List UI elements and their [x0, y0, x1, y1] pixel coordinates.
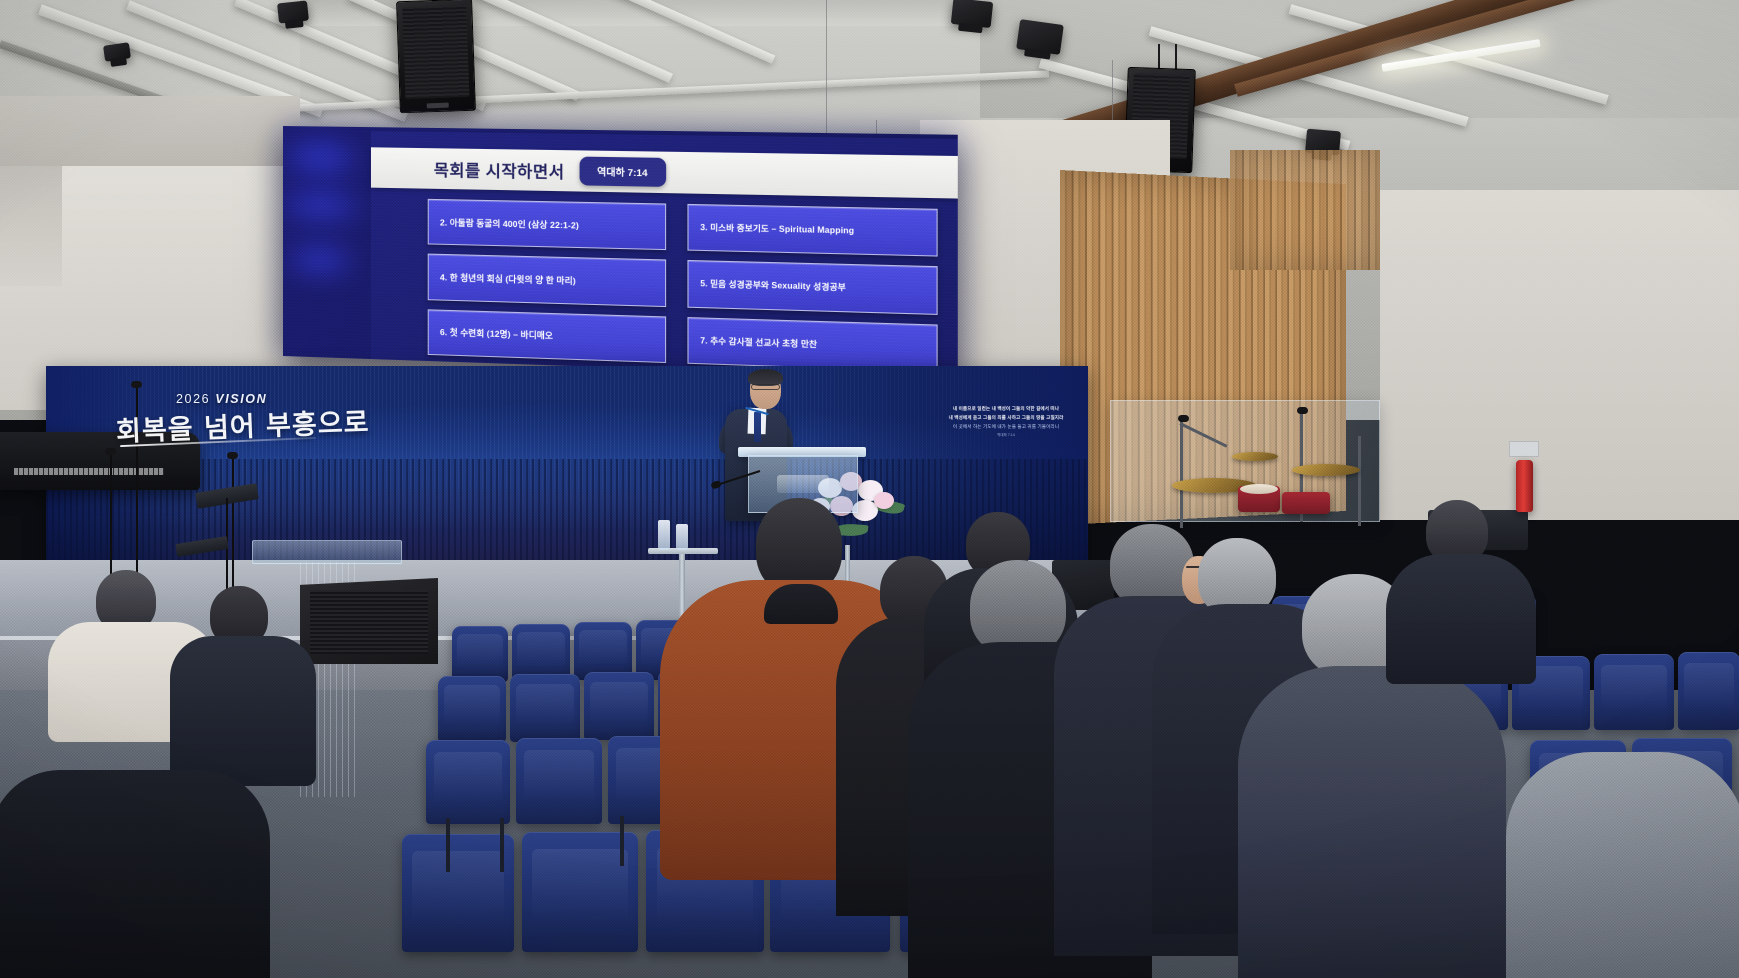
person-body [1506, 752, 1739, 978]
led-presentation-screen[interactable]: 목회를 시작하면서 역대하 7:14 2. 아둘람 동굴의 400인 (삼상 2… [283, 126, 958, 379]
piano-keys [14, 468, 164, 475]
banner-verse-line: 내 이름으로 일컫는 내 백성이 그들의 악한 길에서 떠나 [930, 405, 1082, 414]
upper-wall [0, 96, 300, 166]
slide-item-grid: 2. 아둘람 동굴의 400인 (삼상 22:1-2) 3. 미스바 중보기도 … [428, 199, 938, 372]
track-spotlight [1016, 19, 1064, 55]
slide-item: 5. 믿음 성경공부와 Sexuality 성경공부 [687, 260, 937, 314]
slide-title: 목회를 시작하면서 [434, 156, 565, 183]
person-collar [764, 584, 838, 624]
fire-extinguisher-sign [1509, 441, 1539, 457]
mic-boom-arm [1180, 420, 1183, 528]
speaker-badge [427, 103, 449, 109]
slide-item: 3. 미스바 중보기도 – Spiritual Mapping [687, 204, 937, 257]
slide-canvas: 목회를 시작하면서 역대하 7:14 2. 아둘람 동굴의 400인 (삼상 2… [371, 131, 958, 379]
slide-item: 6. 첫 수련회 (12명) – 바디매오 [428, 309, 666, 363]
back-wall [1380, 190, 1739, 520]
wood-slat-wall [1230, 150, 1380, 270]
microphone-head [1178, 415, 1189, 422]
audience-chair[interactable] [426, 740, 510, 824]
ceiling-speaker [396, 0, 476, 113]
cymbal [1232, 452, 1278, 461]
preacher-tie [754, 412, 761, 442]
acrylic-lectern [252, 540, 402, 564]
audience-chair[interactable] [1594, 654, 1674, 730]
fire-extinguisher [1516, 460, 1533, 512]
person-body [0, 770, 270, 978]
slide-item: 2. 아둘람 동굴의 400인 (삼상 22:1-2) [428, 199, 666, 251]
banner-verse-line: 이 곳에서 하는 기도에 내가 눈을 들고 귀를 기울이리니 [930, 423, 1082, 432]
led-glow [289, 144, 353, 171]
audience-chair[interactable] [452, 626, 508, 682]
audience-chair[interactable] [516, 738, 602, 824]
slide-item: 4. 한 청년의 회심 (다윗의 양 한 마리) [428, 254, 666, 307]
led-glow [291, 248, 349, 272]
stage-monitor-wedge [300, 578, 438, 664]
slide-item: 7. 추수 감사절 선교사 초청 만찬 [687, 317, 937, 373]
person-body [1386, 554, 1536, 684]
monitor-grille [310, 590, 428, 654]
banner-year: 2026 [176, 392, 215, 406]
banner-verse-line: 내 백성에게 듣고 그들의 죄를 사하고 그들의 땅을 고칠지라 [930, 414, 1082, 423]
drum-head [1240, 484, 1278, 494]
track-spotlight [951, 0, 993, 28]
person-body [1238, 666, 1506, 978]
chair-leg [446, 818, 450, 872]
microphone-head [131, 381, 142, 388]
water-bottle [658, 520, 670, 550]
drum [1282, 492, 1330, 514]
banner-verse-reference: 역대하 7:14 [930, 432, 1082, 439]
audience-chair[interactable] [1678, 652, 1739, 730]
sanctuary-photo-scene: 목회를 시작하면서 역대하 7:14 2. 아둘람 동굴의 400인 (삼상 2… [0, 0, 1739, 978]
audience-chair[interactable] [510, 674, 580, 742]
audience-chair[interactable] [402, 834, 514, 952]
microphone-head [105, 448, 116, 455]
chair-leg [500, 818, 504, 872]
mic-boom-arm [1358, 436, 1361, 526]
audience-chair[interactable] [438, 676, 506, 742]
audience-chair[interactable] [584, 672, 654, 740]
pulpit-emblem [777, 475, 829, 493]
microphone-head [1297, 407, 1308, 414]
bouquet-flower [874, 492, 894, 509]
wall-panel [0, 166, 62, 286]
person-body [170, 636, 316, 786]
microphone-head [227, 452, 238, 459]
preacher-glasses-icon [751, 384, 780, 390]
water-bottle [676, 524, 688, 550]
track-spotlight [277, 0, 309, 23]
hanging-cable [1112, 60, 1113, 128]
slide-verse-badge: 역대하 7:14 [579, 157, 665, 187]
led-glow [285, 194, 357, 218]
speaker-grille [402, 5, 469, 99]
chair-leg [620, 816, 624, 866]
banner-verse-text: 내 이름으로 일컫는 내 백성이 그들의 악한 길에서 떠나 내 백성에게 듣고… [930, 405, 1082, 439]
slide-header: 목회를 시작하면서 역대하 7:14 [371, 147, 958, 198]
cymbal [1292, 464, 1360, 476]
